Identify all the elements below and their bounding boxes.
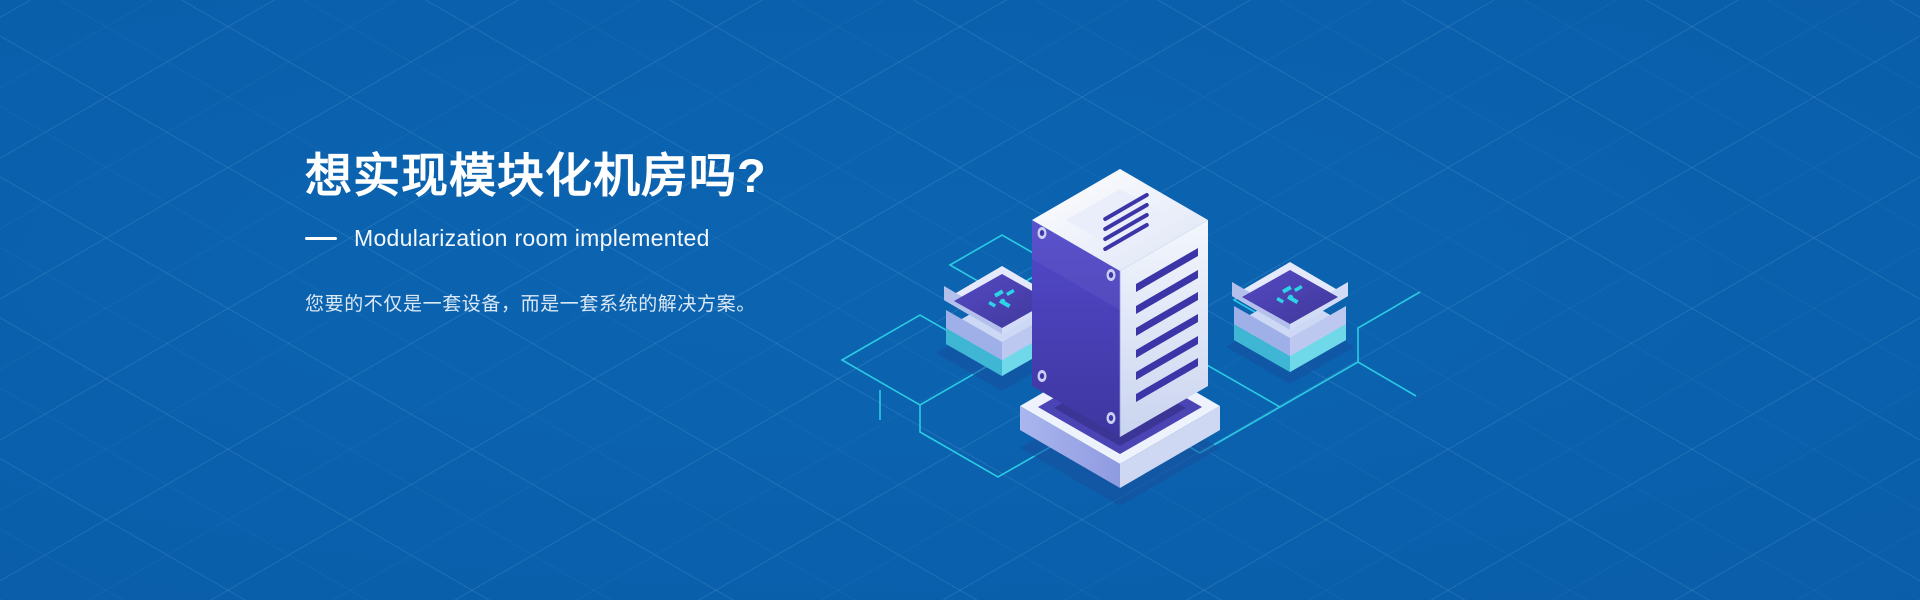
hero-subtitle: Modularization room implemented <box>354 225 710 252</box>
hero-description: 您要的不仅是一套设备，而是一套系统的解决方案。 <box>305 290 945 320</box>
hero-text-block: 想实现模块化机房吗? Modularization room implement… <box>305 148 945 321</box>
center-server-tower <box>1020 169 1220 488</box>
subtitle-row: Modularization room implemented <box>305 225 945 252</box>
hero-banner: 想实现模块化机房吗? Modularization room implement… <box>0 0 1920 600</box>
page-title: 想实现模块化机房吗? <box>305 148 945 203</box>
dash-icon <box>305 237 337 240</box>
